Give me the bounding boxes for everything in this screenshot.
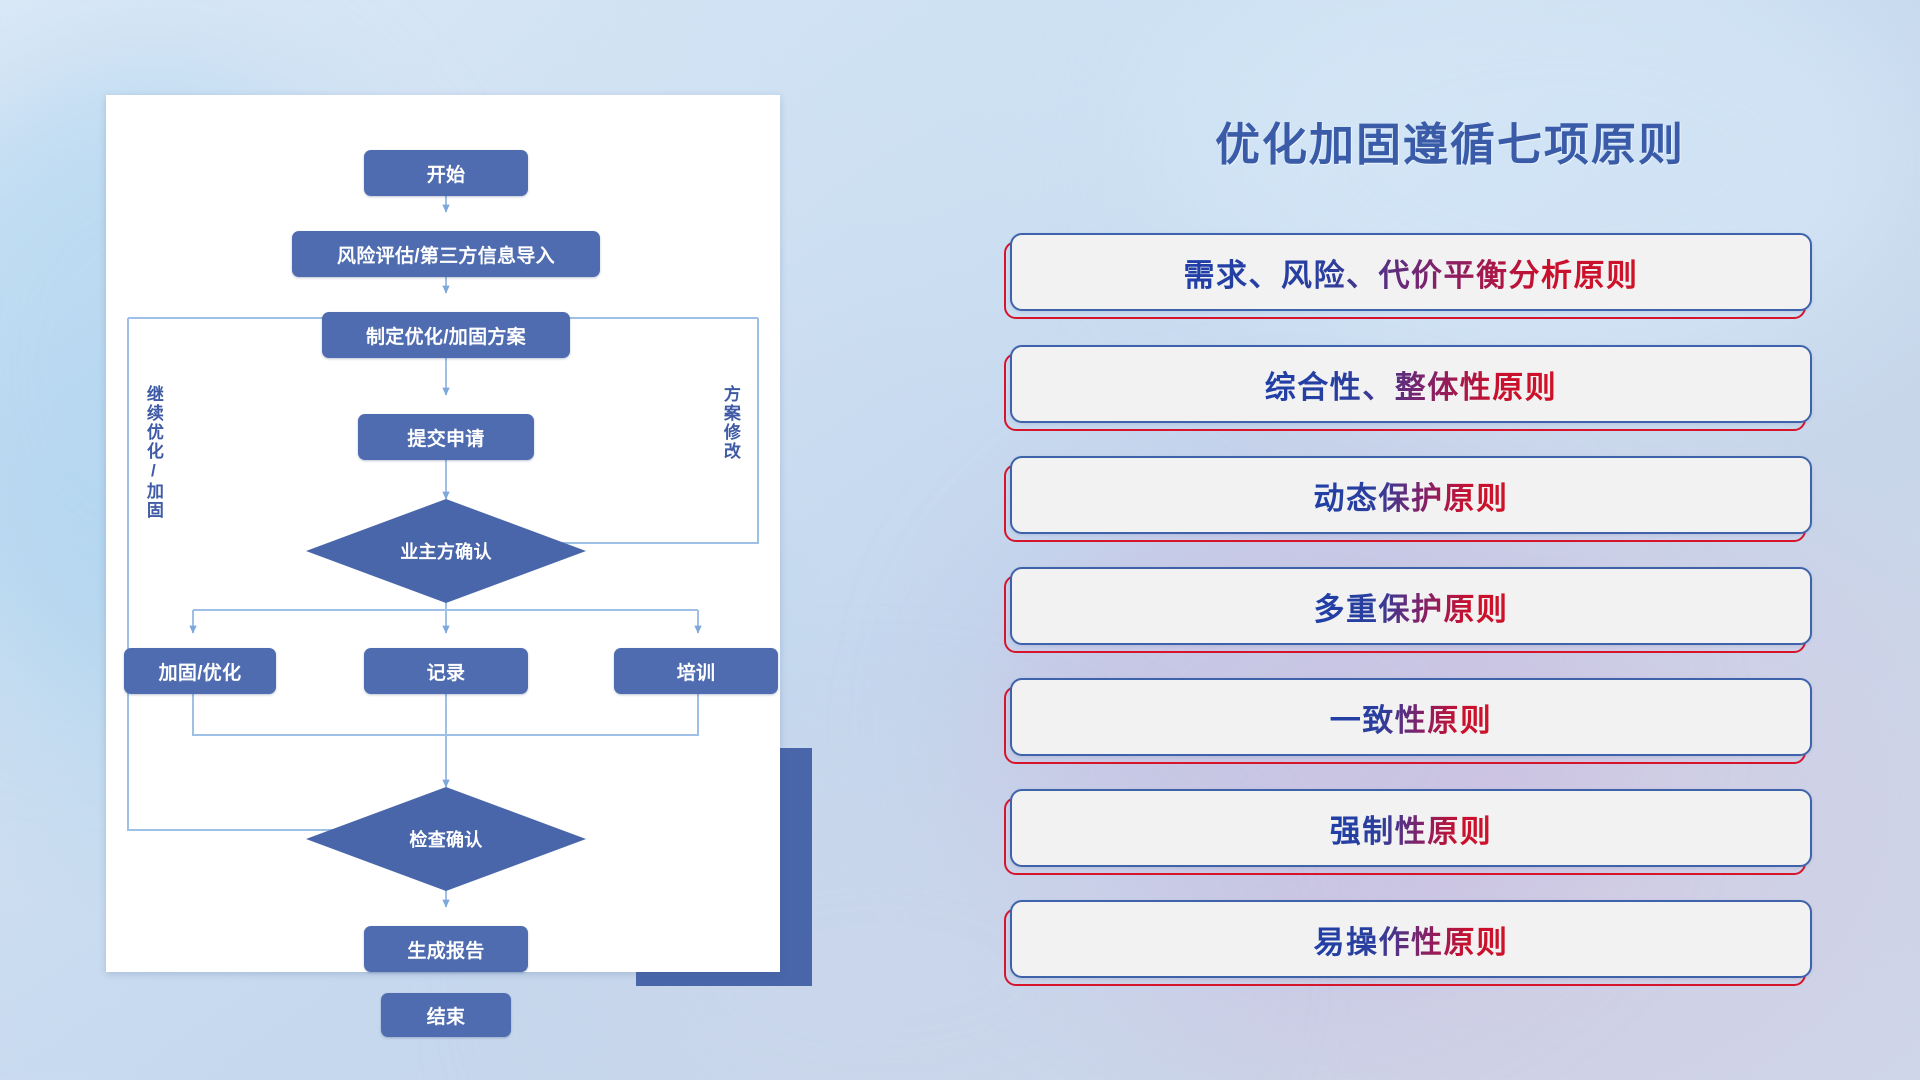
flow-loop-label-right: 方案修改 xyxy=(721,385,739,461)
flow-node-start-label: 开始 xyxy=(427,160,466,187)
flow-node-end-label: 结束 xyxy=(427,1002,466,1029)
flow-node-generate-report-label: 生成报告 xyxy=(407,936,484,963)
flowchart-panel: 开始 风险评估/第三方信息导入 制定优化/加固方案 提交申请 业主方确认 加固/… xyxy=(0,0,860,1080)
flow-node-check-confirm[interactable]: 检查确认 xyxy=(306,787,586,891)
principles-panel: 优化加固遵循七项原则 需求、风险、代价平衡分析原则 综合性、整体性原则 动态保护… xyxy=(980,0,1920,1080)
flow-node-risk-assessment-label: 风险评估/第三方信息导入 xyxy=(337,241,555,268)
card-blue-face: 强制性原则 xyxy=(1010,789,1812,867)
principle-label-6: 强制性原则 xyxy=(1330,806,1493,851)
flow-node-submit-application[interactable]: 提交申请 xyxy=(358,414,534,460)
flow-node-plan[interactable]: 制定优化/加固方案 xyxy=(322,312,570,358)
principle-card-6[interactable]: 强制性原则 xyxy=(1004,789,1802,871)
card-blue-face: 动态保护原则 xyxy=(1010,456,1812,534)
flow-node-owner-confirm[interactable]: 业主方确认 xyxy=(306,499,586,603)
card-blue-face: 需求、风险、代价平衡分析原则 xyxy=(1010,233,1812,311)
card-blue-face: 一致性原则 xyxy=(1010,678,1812,756)
principle-label-2: 综合性、整体性原则 xyxy=(1265,362,1558,407)
flow-node-check-confirm-label: 检查确认 xyxy=(409,826,482,852)
flow-node-end[interactable]: 结束 xyxy=(381,993,511,1037)
principle-label-4: 多重保护原则 xyxy=(1314,584,1509,629)
flow-node-record[interactable]: 记录 xyxy=(364,648,528,694)
flow-node-record-label: 记录 xyxy=(427,658,466,685)
card-blue-face: 综合性、整体性原则 xyxy=(1010,345,1812,423)
principle-label-1: 需求、风险、代价平衡分析原则 xyxy=(1184,250,1639,295)
flow-node-owner-confirm-label: 业主方确认 xyxy=(400,538,492,564)
principle-card-2[interactable]: 综合性、整体性原则 xyxy=(1004,345,1802,427)
flow-node-plan-label: 制定优化/加固方案 xyxy=(366,322,526,349)
flow-loop-label-left: 继续优化/加固 xyxy=(144,385,162,520)
flowchart-card: 开始 风险评估/第三方信息导入 制定优化/加固方案 提交申请 业主方确认 加固/… xyxy=(106,95,780,972)
flow-node-reinforce-label: 加固/优化 xyxy=(159,658,242,685)
principle-card-1[interactable]: 需求、风险、代价平衡分析原则 xyxy=(1004,233,1802,315)
card-blue-face: 多重保护原则 xyxy=(1010,567,1812,645)
flow-node-reinforce[interactable]: 加固/优化 xyxy=(124,648,276,694)
card-blue-face: 易操作性原则 xyxy=(1010,900,1812,978)
principle-card-3[interactable]: 动态保护原则 xyxy=(1004,456,1802,538)
principle-label-5: 一致性原则 xyxy=(1330,695,1493,740)
flow-node-submit-application-label: 提交申请 xyxy=(407,424,484,451)
flow-node-risk-assessment[interactable]: 风险评估/第三方信息导入 xyxy=(292,231,600,277)
flow-node-generate-report[interactable]: 生成报告 xyxy=(364,926,528,972)
panel-title: 优化加固遵循七项原则 xyxy=(980,108,1920,173)
principle-card-7[interactable]: 易操作性原则 xyxy=(1004,900,1802,982)
flow-node-training-label: 培训 xyxy=(677,658,716,685)
principle-card-5[interactable]: 一致性原则 xyxy=(1004,678,1802,760)
flow-node-start[interactable]: 开始 xyxy=(364,150,528,196)
principle-label-3: 动态保护原则 xyxy=(1314,473,1509,518)
flow-node-training[interactable]: 培训 xyxy=(614,648,778,694)
principle-label-7: 易操作性原则 xyxy=(1314,917,1509,962)
principle-card-4[interactable]: 多重保护原则 xyxy=(1004,567,1802,649)
